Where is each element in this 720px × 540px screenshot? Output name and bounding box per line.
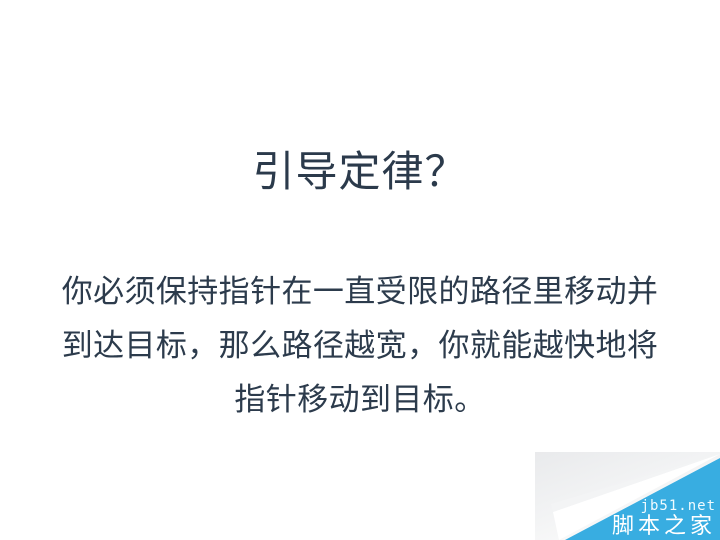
slide-body-text: 你必须保持指针在一直受限的路径里移动并 到达目标，那么路径越宽，你就能越快地将 … <box>44 265 676 427</box>
page-title: 引导定律？ <box>0 146 720 198</box>
watermark-curl-fold <box>535 452 720 540</box>
slide-canvas: 引导定律？ 你必须保持指针在一直受限的路径里移动并 到达目标，那么路径越宽，你就… <box>0 0 720 540</box>
body-line-1: 你必须保持指针在一直受限的路径里移动并 <box>44 265 676 319</box>
watermark: jb51.net 脚本之家 <box>535 452 720 540</box>
body-line-3: 指针移动到目标。 <box>44 373 676 427</box>
body-line-2: 到达目标，那么路径越宽，你就能越快地将 <box>44 319 676 373</box>
